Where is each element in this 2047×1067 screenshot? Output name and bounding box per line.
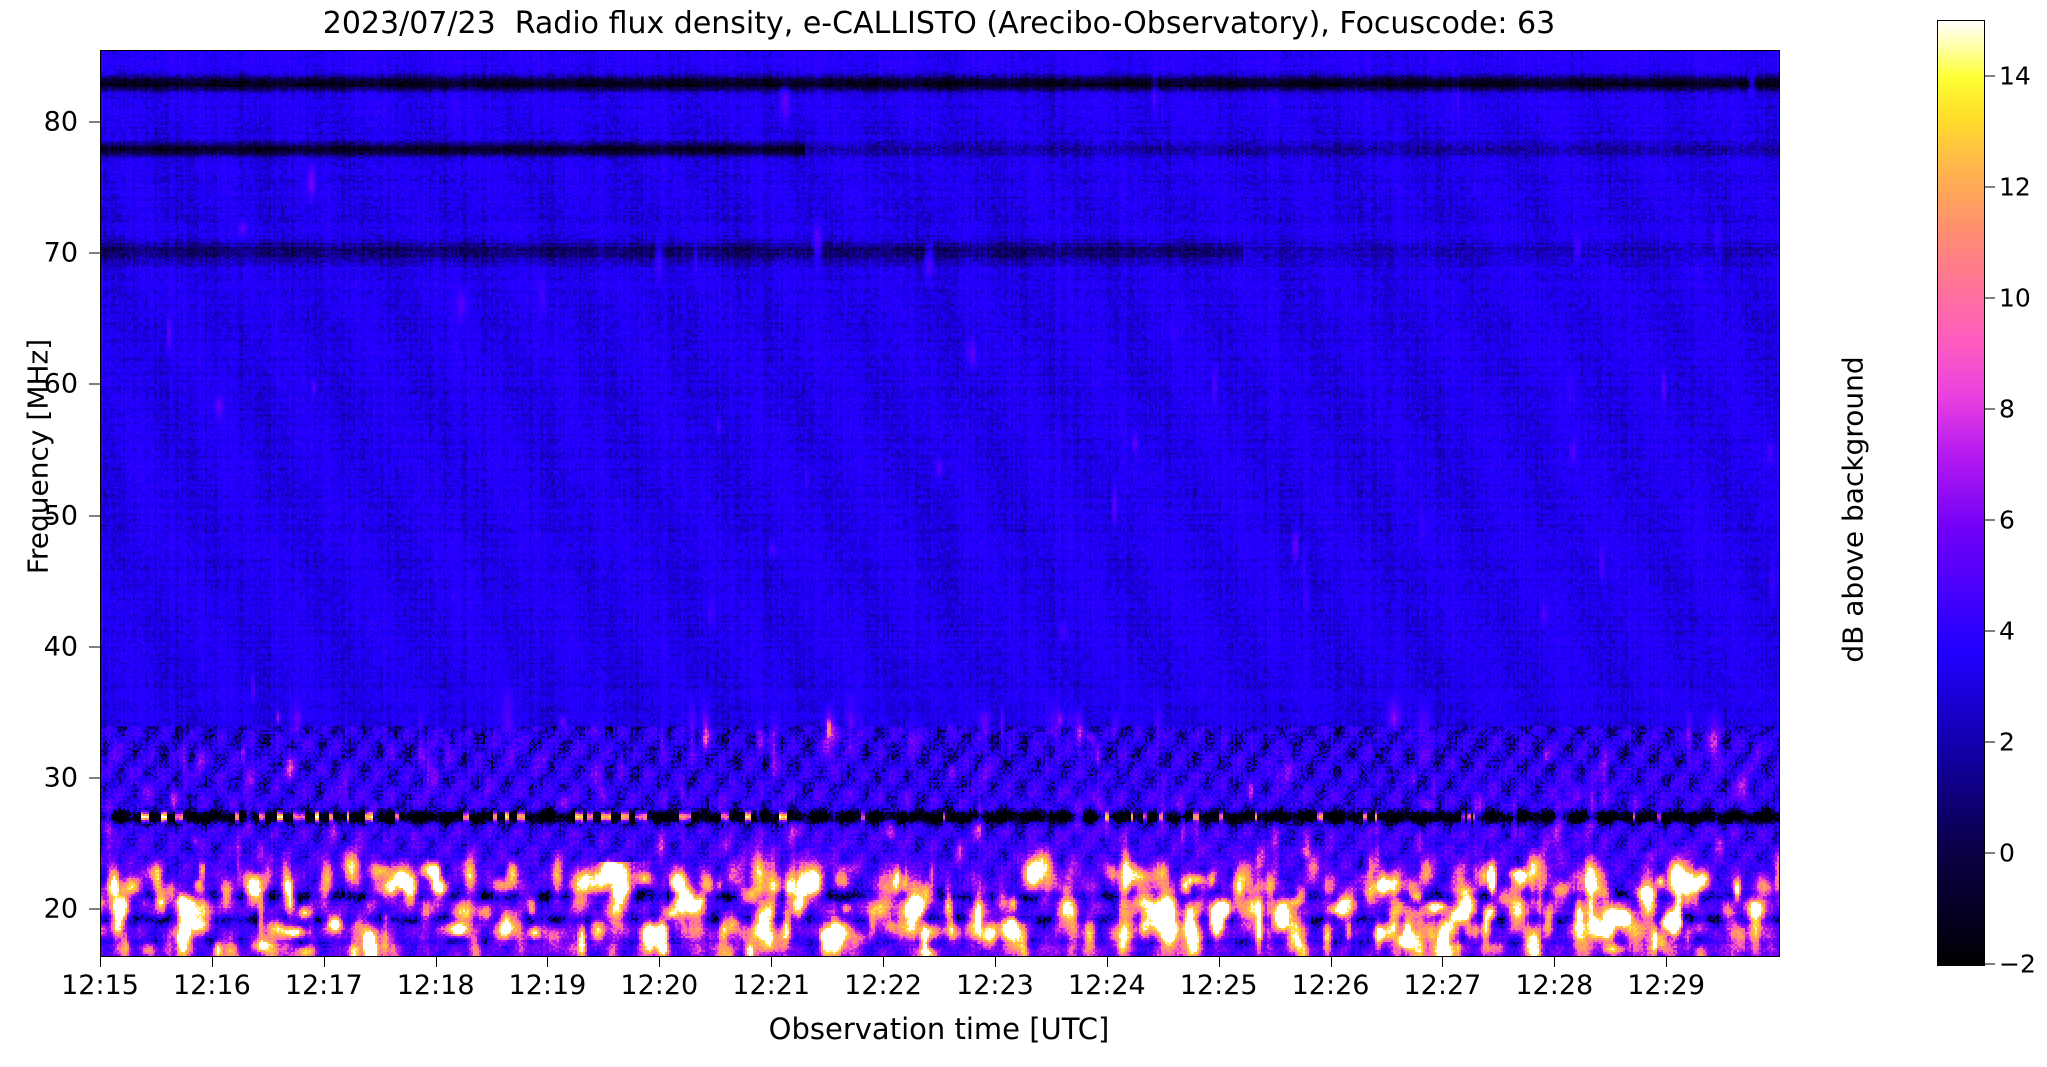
y-tick-label-20: 20 xyxy=(44,894,90,925)
y-tick-mark-30 xyxy=(89,777,100,778)
x-tick-mark-12-24 xyxy=(1107,956,1108,967)
x-tick-label-12-28: 12:28 xyxy=(1515,970,1593,1001)
x-tick-mark-12-15 xyxy=(100,956,101,967)
colorbar-label: dB above background xyxy=(1837,160,1870,860)
colorbar-gradient xyxy=(1937,20,1985,966)
x-tick-label-12-25: 12:25 xyxy=(1180,970,1258,1001)
x-tick-label-12-26: 12:26 xyxy=(1292,970,1370,1001)
colorbar-tick-label-8: −2 xyxy=(1999,950,2036,979)
x-tick-mark-12-28 xyxy=(1554,956,1555,967)
y-tick-mark-60 xyxy=(89,384,100,385)
colorbar: 14121086420−2 xyxy=(1937,20,1985,966)
colorbar-tick-label-3: 8 xyxy=(1999,394,2015,423)
y-tick-mark-20 xyxy=(89,909,100,910)
x-tick-mark-12-27 xyxy=(1442,956,1443,967)
colorbar-tick-mark-6 xyxy=(1985,741,1995,742)
x-tick-mark-12-29 xyxy=(1666,956,1667,967)
x-tick-mark-12-25 xyxy=(1219,956,1220,967)
x-axis-label: Observation time [UTC] xyxy=(100,1012,1778,1046)
x-tick-label-12-20: 12:20 xyxy=(620,970,698,1001)
x-tick-mark-12-26 xyxy=(1331,956,1332,967)
y-tick-mark-70 xyxy=(89,253,100,254)
x-tick-mark-12-19 xyxy=(547,956,548,967)
colorbar-tick-mark-4 xyxy=(1985,519,1995,520)
colorbar-tick-label-7: 0 xyxy=(1999,838,2015,867)
x-tick-label-12-24: 12:24 xyxy=(1068,970,1146,1001)
y-tick-mark-40 xyxy=(89,646,100,647)
spectrogram-image xyxy=(101,51,1779,956)
spectrogram-figure: 2023/07/23 Radio flux density, e-CALLIST… xyxy=(0,0,2047,1067)
x-tick-mark-12-18 xyxy=(436,956,437,967)
x-tick-label-12-29: 12:29 xyxy=(1627,970,1705,1001)
y-tick-mark-80 xyxy=(89,122,100,123)
colorbar-tick-mark-5 xyxy=(1985,630,1995,631)
colorbar-tick-label-4: 6 xyxy=(1999,505,2015,534)
x-tick-label-12-16: 12:16 xyxy=(173,970,251,1001)
y-tick-label-30: 30 xyxy=(44,762,90,793)
colorbar-tick-mark-1 xyxy=(1985,186,1995,187)
colorbar-tick-mark-0 xyxy=(1985,75,1995,76)
x-tick-label-12-22: 12:22 xyxy=(844,970,922,1001)
colorbar-tick-mark-3 xyxy=(1985,408,1995,409)
colorbar-tick-label-2: 10 xyxy=(1999,283,2031,312)
colorbar-tick-label-5: 4 xyxy=(1999,616,2015,645)
x-tick-label-12-27: 12:27 xyxy=(1403,970,1481,1001)
colorbar-tick-label-1: 12 xyxy=(1999,172,2031,201)
x-tick-mark-12-23 xyxy=(995,956,996,967)
x-tick-label-12-18: 12:18 xyxy=(397,970,475,1001)
x-tick-mark-12-17 xyxy=(324,956,325,967)
y-tick-label-80: 80 xyxy=(44,107,90,138)
x-tick-label-12-17: 12:17 xyxy=(285,970,363,1001)
page-title: 2023/07/23 Radio flux density, e-CALLIST… xyxy=(100,4,1778,44)
colorbar-tick-mark-8 xyxy=(1985,964,1995,965)
x-tick-mark-12-21 xyxy=(771,956,772,967)
x-tick-mark-12-16 xyxy=(212,956,213,967)
x-tick-label-12-19: 12:19 xyxy=(509,970,587,1001)
y-axis-label: Frequency [MHz] xyxy=(22,157,55,757)
y-tick-mark-50 xyxy=(89,515,100,516)
x-tick-label-12-21: 12:21 xyxy=(732,970,810,1001)
spectrogram-plot[interactable] xyxy=(100,50,1780,957)
x-tick-label-12-23: 12:23 xyxy=(956,970,1034,1001)
colorbar-tick-label-0: 14 xyxy=(1999,61,2031,90)
x-axis: 12:1512:1612:1712:1812:1912:2012:2112:22… xyxy=(100,956,1778,1016)
x-tick-mark-12-22 xyxy=(883,956,884,967)
x-tick-label-12-15: 12:15 xyxy=(61,970,139,1001)
colorbar-tick-mark-7 xyxy=(1985,852,1995,853)
x-tick-mark-12-20 xyxy=(659,956,660,967)
colorbar-tick-label-6: 2 xyxy=(1999,727,2015,756)
colorbar-tick-mark-2 xyxy=(1985,297,1995,298)
